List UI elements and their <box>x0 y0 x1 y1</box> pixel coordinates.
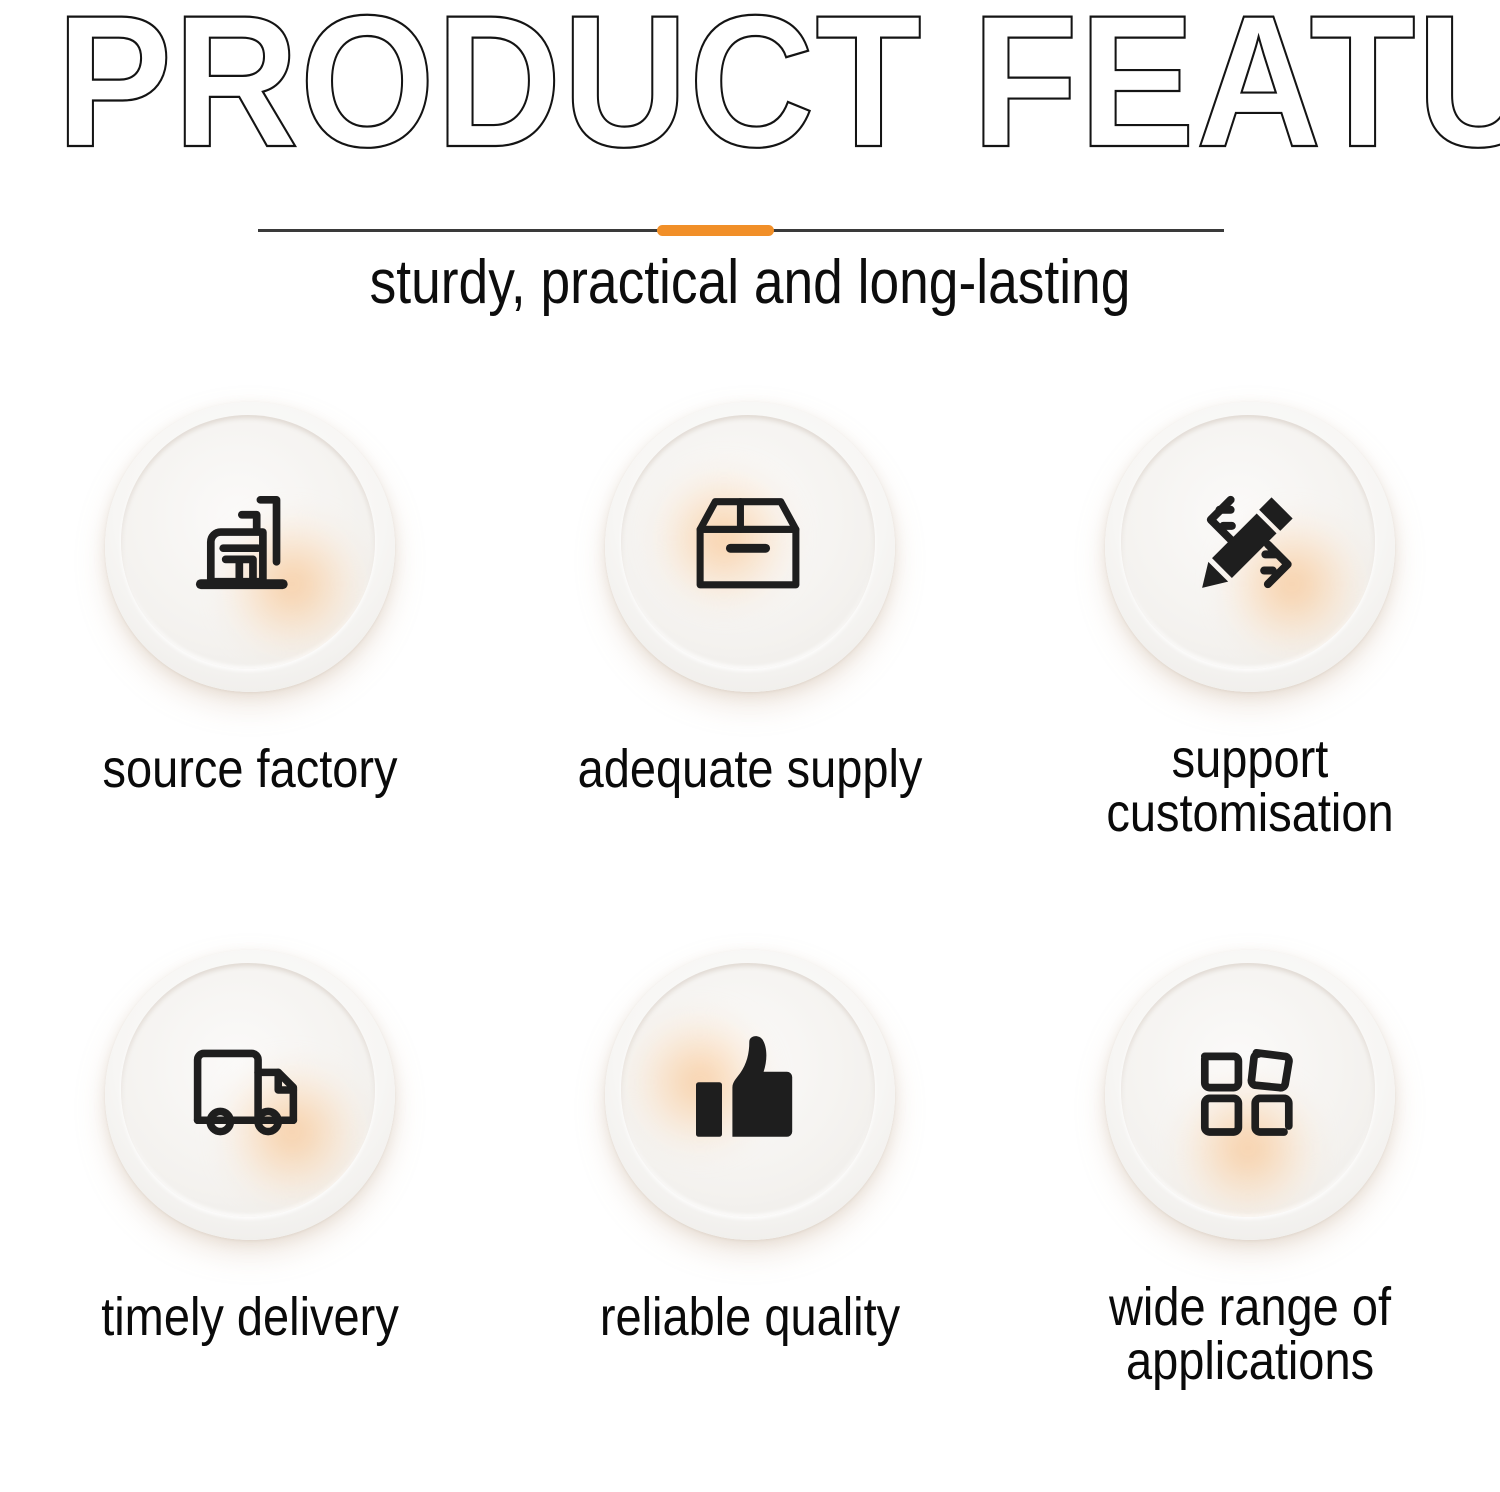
feature-badge <box>1105 950 1395 1240</box>
thumbs-up-icon <box>621 963 875 1217</box>
feature-label: reliable quality <box>533 1290 968 1344</box>
feature-label: support customisation <box>1033 732 1468 840</box>
page-title: PRODUCT FEATURES <box>56 0 1444 156</box>
badge-face <box>1121 963 1375 1217</box>
factory-icon <box>121 415 375 669</box>
feature-badge <box>105 402 395 692</box>
badge-face <box>621 415 875 669</box>
feature-item-support-customisation: support customisation <box>1000 396 1500 944</box>
badge-face <box>121 415 375 669</box>
feature-badge <box>605 402 895 692</box>
feature-label: timely delivery <box>33 1290 468 1344</box>
pencil-ruler-icon <box>1121 415 1375 669</box>
apps-grid-icon <box>1121 963 1375 1217</box>
badge-face <box>621 963 875 1217</box>
feature-label: source factory <box>33 742 468 796</box>
badge-face <box>1121 415 1375 669</box>
feature-label: wide range of applications <box>1033 1280 1468 1388</box>
feature-item-adequate-supply: adequate supply <box>500 396 1000 944</box>
delivery-truck-icon <box>121 963 375 1217</box>
product-features-infographic: PRODUCT FEATURES sturdy, practical and l… <box>0 0 1500 1492</box>
box-icon <box>621 415 875 669</box>
header: PRODUCT FEATURES <box>0 0 1500 156</box>
feature-badge <box>605 950 895 1240</box>
feature-badge <box>1105 402 1395 692</box>
feature-item-reliable-quality: reliable quality <box>500 944 1000 1492</box>
feature-item-source-factory: source factory <box>0 396 500 944</box>
title-divider <box>0 224 1500 238</box>
badge-face <box>121 963 375 1217</box>
feature-badge <box>105 950 395 1240</box>
feature-grid: source factory adequate sup <box>0 396 1500 1492</box>
feature-item-wide-range-of-applications: wide range of applications <box>1000 944 1500 1492</box>
feature-label: adequate supply <box>533 742 968 796</box>
divider-accent-segment <box>657 225 774 236</box>
page-subtitle: sturdy, practical and long-lasting <box>105 246 1395 320</box>
feature-item-timely-delivery: timely delivery <box>0 944 500 1492</box>
